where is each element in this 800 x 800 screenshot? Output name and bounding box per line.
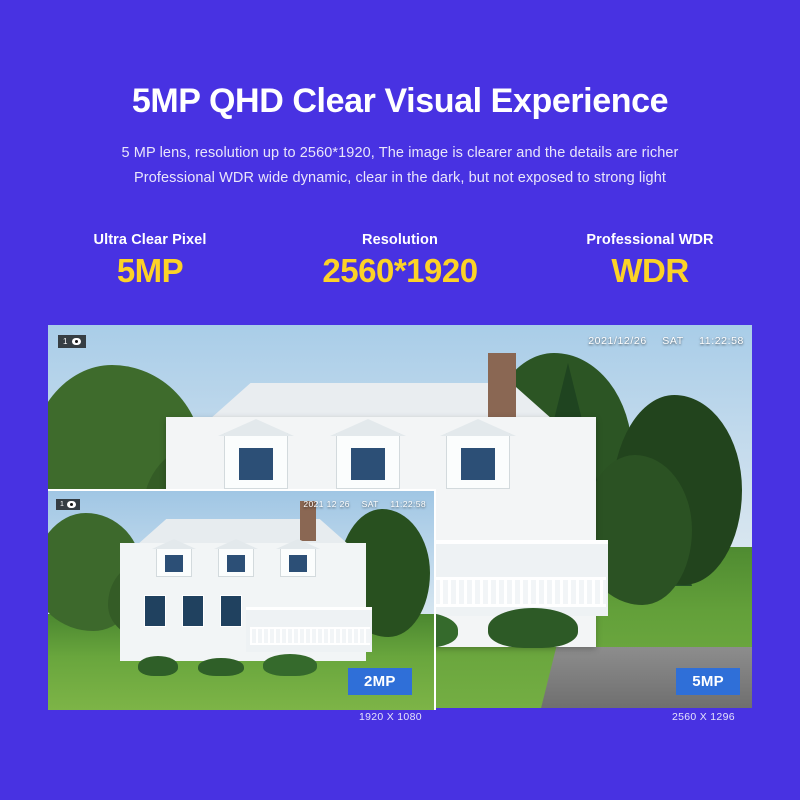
spec-resolution: Resolution 2560*1920 <box>285 232 515 290</box>
spec-value: 2560*1920 <box>285 252 515 290</box>
spec-row: Ultra Clear Pixel 5MP Resolution 2560*19… <box>0 232 800 312</box>
osd-date: 2021/12/26 <box>588 335 647 347</box>
osd-timestamp: 2021 12 26 SAT 11:22:58 <box>294 499 426 509</box>
shrub <box>488 608 578 648</box>
spec-label: Resolution <box>285 232 515 248</box>
shrub <box>198 658 244 676</box>
camera-comparison-image: 1 2021/12/26 SAT 11:22:58 <box>48 325 752 708</box>
osd-weekday: SAT <box>662 335 683 347</box>
badge-5mp: 5MP <box>676 668 740 695</box>
dormer-window <box>224 433 288 489</box>
osd-weekday: SAT <box>362 499 379 509</box>
shrub <box>138 656 178 676</box>
dormer-window <box>156 547 192 577</box>
osd-channel-number: 1 <box>60 501 64 508</box>
window-pane <box>289 555 307 572</box>
spec-ultra-clear-pixel: Ultra Clear Pixel 5MP <box>35 232 265 290</box>
window-pane <box>227 555 245 572</box>
osd-clock: 11:22:58 <box>390 499 426 509</box>
spec-label: Professional WDR <box>535 232 765 248</box>
window-pane <box>239 448 273 480</box>
spec-value: 5MP <box>35 252 265 290</box>
window-pane <box>351 448 385 480</box>
osd-clock: 11:22:58 <box>699 335 744 347</box>
shrub <box>263 654 317 676</box>
osd-date: 2021 12 26 <box>303 499 350 509</box>
osd-channel-number: 1 <box>63 337 68 346</box>
window <box>220 595 242 627</box>
spec-value: WDR <box>535 252 765 290</box>
dormer-window <box>336 433 400 489</box>
spec-professional-wdr: Professional WDR WDR <box>535 232 765 290</box>
page-title: 5MP QHD Clear Visual Experience <box>0 82 800 121</box>
dormer-window <box>446 433 510 489</box>
osd-channel-badge: 1 <box>58 335 86 348</box>
caption-5mp-resolution: 2560 X 1296 <box>672 711 735 723</box>
window <box>144 595 166 627</box>
window-pane <box>165 555 183 572</box>
osd-timestamp: 2021/12/26 SAT 11:22:58 <box>576 335 744 347</box>
window <box>182 595 204 627</box>
spec-label: Ultra Clear Pixel <box>35 232 265 248</box>
osd-channel-badge: 1 <box>56 499 80 510</box>
dormer-window <box>280 547 316 577</box>
porch-railing <box>250 627 370 645</box>
badge-2mp: 2MP <box>348 668 412 695</box>
subtitle-line-2: Professional WDR wide dynamic, clear in … <box>0 170 800 186</box>
window-pane <box>461 448 495 480</box>
promo-page: 5MP QHD Clear Visual Experience 5 MP len… <box>0 0 800 800</box>
subtitle-line-1: 5 MP lens, resolution up to 2560*1920, T… <box>0 145 800 161</box>
dormer-window <box>218 547 254 577</box>
eye-icon <box>67 501 76 508</box>
caption-2mp-resolution: 1920 X 1080 <box>359 711 422 723</box>
eye-icon <box>72 338 81 345</box>
